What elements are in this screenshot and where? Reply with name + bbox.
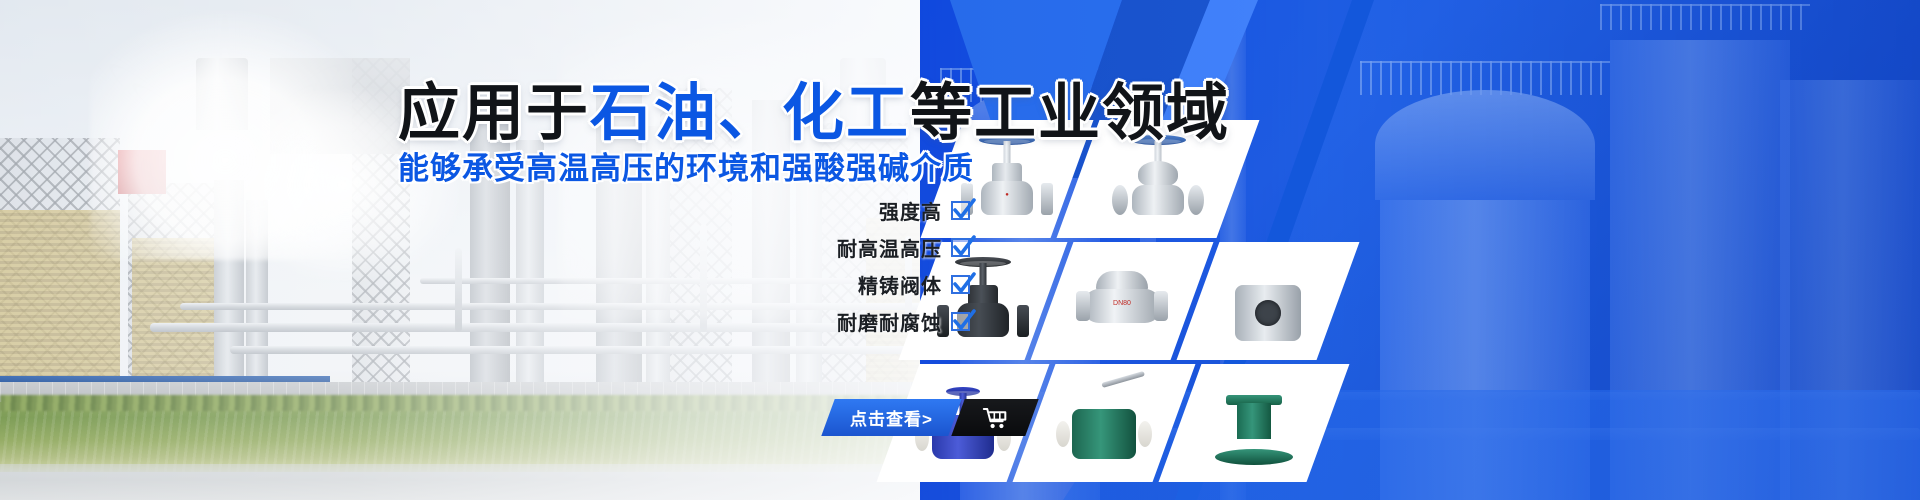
swing-check-valve-icon: DN80 (1074, 255, 1170, 347)
page-title: 应用于石油、化工等工业领域 (398, 62, 1230, 152)
headline-part-1: 应用于 (398, 79, 590, 148)
view-more-button[interactable]: 点击查看> (828, 399, 1032, 436)
hero-banner: ● (0, 0, 1920, 500)
view-more-button-label-wrap[interactable]: 点击查看> (821, 399, 961, 436)
feature-item-3: 耐磨耐腐蚀 (837, 307, 970, 336)
checkbox-checked-icon[interactable] (951, 201, 970, 220)
shopping-cart-icon (982, 406, 1008, 430)
feature-label-0: 强度高 (879, 196, 942, 225)
feature-item-2: 精铸阀体 (858, 270, 970, 299)
feature-item-0: 强度高 (879, 196, 970, 225)
checkbox-checked-icon[interactable] (951, 312, 970, 331)
checkbox-checked-icon[interactable] (951, 238, 970, 257)
plug-valve-green-icon (1206, 377, 1302, 469)
headline-part-3: 等工业领域 (910, 79, 1230, 148)
feature-checklist: 强度高 耐高温高压 精铸阀体 耐磨耐腐蚀 (600, 196, 970, 336)
headline-part-2-highlight: 石油、化工 (590, 79, 910, 148)
lever-ball-valve-green-icon (1056, 377, 1152, 469)
feature-label-1: 耐高温高压 (837, 233, 942, 262)
page-subtitle: 能够承受高温高压的环境和强酸强碱介质 (398, 143, 974, 188)
feature-label-3: 耐磨耐腐蚀 (837, 307, 942, 336)
feature-label-2: 精铸阀体 (858, 270, 942, 299)
flanged-pipe-spool-icon (1220, 255, 1316, 347)
view-more-button-label: 点击查看> (850, 405, 933, 430)
feature-item-1: 耐高温高压 (837, 233, 970, 262)
shopping-cart-button[interactable] (951, 399, 1038, 436)
checkbox-checked-icon[interactable] (951, 275, 970, 294)
